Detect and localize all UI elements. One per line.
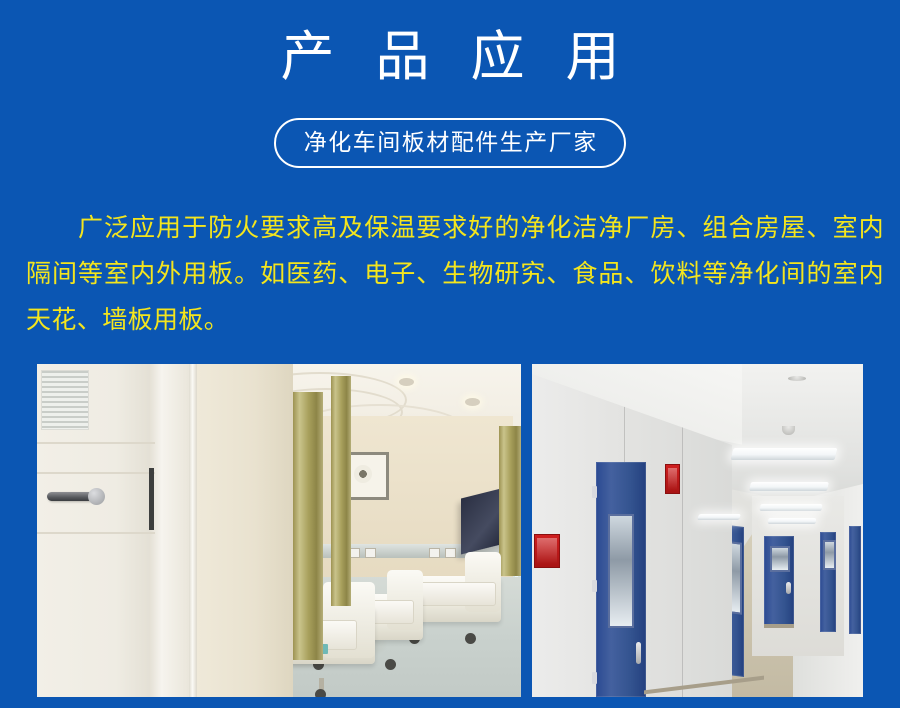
door-hinge (592, 580, 597, 592)
downlight-icon (465, 398, 480, 406)
door-panel-seam (37, 532, 155, 534)
door-handle (786, 582, 791, 594)
door-vent-grille (41, 370, 89, 430)
cream-partition-panel (197, 364, 293, 697)
ward-scene (37, 364, 521, 697)
bed-wheel (385, 659, 396, 670)
door-panel-seam (37, 442, 155, 444)
bed-wheel (465, 633, 476, 644)
door-hinge (592, 486, 597, 498)
ceiling-vent-icon (788, 376, 806, 381)
olive-pillar (499, 426, 521, 576)
ceiling-light-fixture (731, 448, 838, 460)
door-view-window (770, 546, 790, 572)
description-paragraph: 广泛应用于防火要求高及保温要求好的净化洁净厂房、组合房屋、室内隔间等室内外用板。… (26, 205, 884, 343)
panel-seam (682, 400, 683, 697)
subtitle-pill-wrapper: 净化车间板材配件生产厂家 (0, 118, 900, 168)
olive-pillar (293, 392, 323, 660)
ceiling-light-fixture (697, 514, 741, 520)
product-application-banner: 产 品 应 用 净化车间板材配件生产厂家 广泛应用于防火要求高及保温要求好的净化… (0, 0, 900, 708)
door-view-window (823, 540, 836, 570)
cleanroom-door (820, 532, 836, 632)
hospital-ward-photo (37, 364, 521, 697)
door-view-window (608, 514, 634, 628)
page-title: 产 品 应 用 (0, 22, 900, 92)
bed-wheel (315, 689, 326, 697)
ceiling-light-fixture (759, 504, 822, 511)
application-photo-gallery (37, 364, 863, 697)
ceiling-light-fixture (768, 518, 817, 524)
door-threshold (764, 624, 794, 628)
wall-outlet-icon (365, 548, 376, 558)
door-handle (636, 642, 641, 664)
corridor-scene (532, 364, 863, 697)
cleanroom-corridor-photo (532, 364, 863, 697)
subtitle-badge: 净化车间板材配件生产厂家 (274, 118, 626, 168)
fire-alarm-box-icon (665, 464, 680, 494)
door-hinge (592, 672, 597, 684)
ceiling-light-fixture (749, 482, 829, 491)
door-handle (47, 492, 93, 501)
door-panel-seam (37, 472, 155, 474)
cleanroom-door (764, 536, 794, 626)
description-block: 广泛应用于防火要求高及保温要求好的净化洁净厂房、组合房屋、室内隔间等室内外用板。… (26, 205, 884, 343)
door-edge-gap (149, 468, 154, 530)
cleanroom-door (849, 526, 861, 634)
olive-pillar (331, 376, 351, 606)
cleanroom-door (596, 462, 646, 697)
downlight-icon (399, 378, 414, 386)
fire-alarm-box-icon (534, 534, 560, 568)
foreground-door-panel (37, 364, 189, 697)
